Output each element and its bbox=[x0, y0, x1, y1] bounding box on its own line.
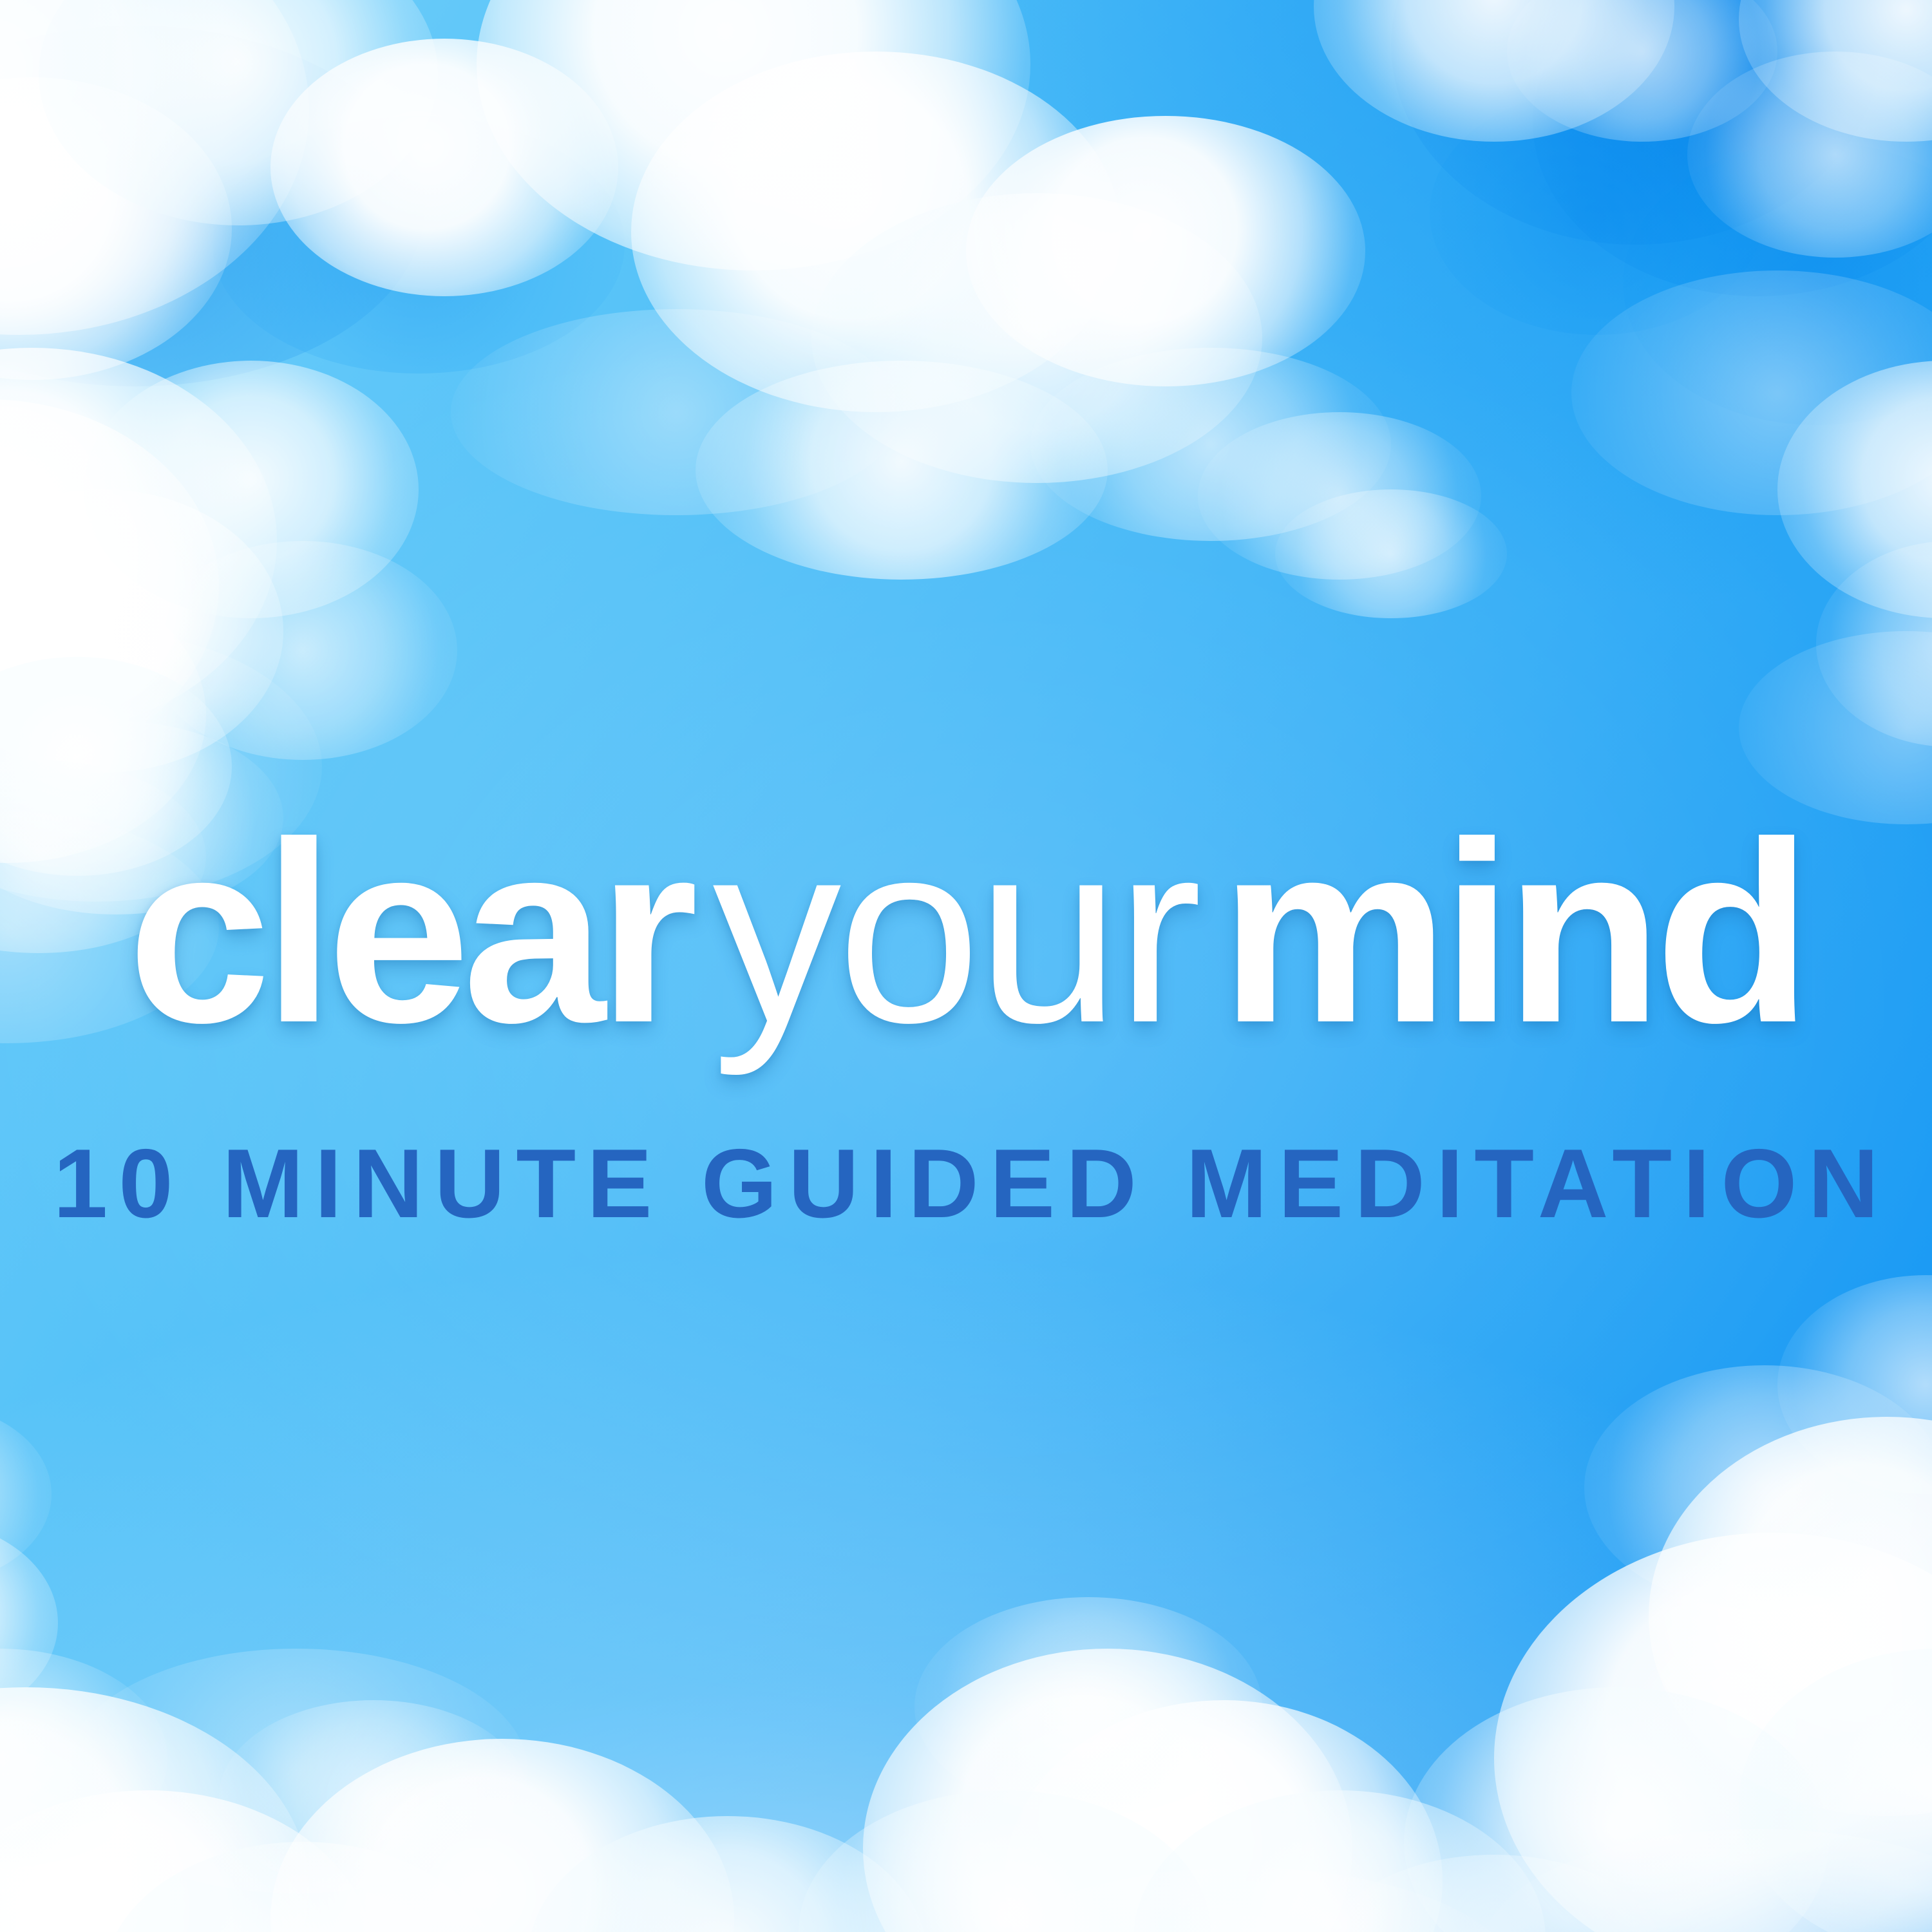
title-word-mind: mind bbox=[1220, 788, 1804, 1076]
title-word-clear: clear bbox=[128, 788, 690, 1076]
title-word-your: your bbox=[712, 788, 1198, 1076]
cover-text-block: clearyourmind 10 MINUTE GUIDED MEDITATIO… bbox=[0, 0, 1932, 1932]
album-cover-artwork: clearyourmind 10 MINUTE GUIDED MEDITATIO… bbox=[0, 0, 1932, 1932]
cover-subtitle: 10 MINUTE GUIDED MEDITATION bbox=[0, 1135, 1932, 1233]
cover-title: clearyourmind bbox=[0, 804, 1932, 1061]
